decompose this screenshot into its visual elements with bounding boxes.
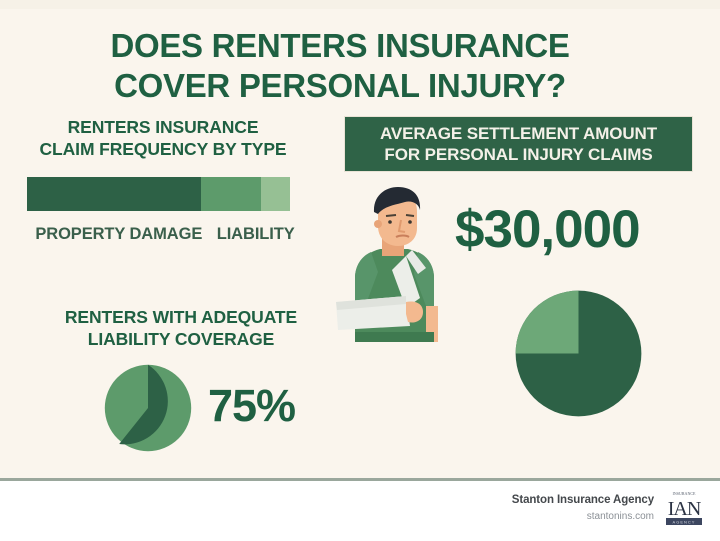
logo-bar-text: AGENCY xyxy=(673,520,696,525)
claim-frequency-heading-line-2: CLAIM FREQUENCY BY TYPE xyxy=(18,138,308,160)
person-shirt-hem xyxy=(355,332,434,342)
poster-top-strip xyxy=(0,0,720,9)
person-eye-left xyxy=(388,220,392,224)
title-line-1: DOES RENTERS INSURANCE xyxy=(40,26,640,66)
bar-legend: PROPERTY DAMAGE LIABILITY xyxy=(20,225,310,244)
person-ear xyxy=(374,220,382,228)
settlement-heading-line-2: FOR PERSONAL INJURY CLAIMS xyxy=(384,144,652,165)
agency-logo-icon: INSURANCE IAN AGENCY xyxy=(662,489,706,527)
logo-top-text: INSURANCE xyxy=(673,491,696,496)
settlement-header-box: AVERAGE SETTLEMENT AMOUNT FOR PERSONAL I… xyxy=(344,116,693,172)
person-eyebrow xyxy=(386,215,396,216)
coverage-row: 75% xyxy=(36,363,326,455)
coverage-heading-line-2: LIABILITY COVERAGE xyxy=(36,328,326,350)
logo-monogram: IAN xyxy=(668,498,701,520)
bar-segment-other xyxy=(261,177,290,211)
coverage-heading-line-1: RENTERS WITH ADEQUATE xyxy=(36,306,326,328)
pie-large-slice-minor xyxy=(516,291,579,354)
claim-frequency-chart: RENTERS INSURANCE CLAIM FREQUENCY BY TYP… xyxy=(18,116,308,244)
person-eyebrow-2 xyxy=(406,215,414,216)
title-line-2: COVER PERSONAL INJURY? xyxy=(40,66,640,106)
coverage-pie-chart xyxy=(103,363,193,453)
coverage-heading: RENTERS WITH ADEQUATE LIABILITY COVERAGE xyxy=(36,306,326,351)
settlement-amount: $30,000 xyxy=(455,203,640,256)
person-eye-right xyxy=(408,220,412,224)
footer-text: Stanton Insurance Agency stantonins.com xyxy=(512,492,654,524)
claim-frequency-heading-line-1: RENTERS INSURANCE xyxy=(18,116,308,138)
claim-frequency-heading: RENTERS INSURANCE CLAIM FREQUENCY BY TYP… xyxy=(18,116,308,161)
settlement-pie-chart xyxy=(513,288,644,419)
footer-branding: Stanton Insurance Agency stantonins.com … xyxy=(512,489,706,527)
legend-label-liability: LIABILITY xyxy=(217,225,295,243)
page-title: DOES RENTERS INSURANCE COVER PERSONAL IN… xyxy=(40,26,640,107)
liability-coverage-chart: RENTERS WITH ADEQUATE LIABILITY COVERAGE… xyxy=(36,306,326,455)
legend-label-property-damage: PROPERTY DAMAGE xyxy=(35,225,202,243)
coverage-percent-label: 75% xyxy=(208,383,295,428)
infographic-canvas: DOES RENTERS INSURANCE COVER PERSONAL IN… xyxy=(0,0,720,541)
settlement-heading-line-1: AVERAGE SETTLEMENT AMOUNT xyxy=(380,123,657,144)
stacked-bar xyxy=(27,177,290,211)
agency-website[interactable]: stantonins.com xyxy=(512,509,654,524)
footer: Stanton Insurance Agency stantonins.com … xyxy=(0,481,720,541)
agency-name: Stanton Insurance Agency xyxy=(512,492,654,509)
poster-panel: DOES RENTERS INSURANCE COVER PERSONAL IN… xyxy=(0,0,720,481)
injured-person-illustration xyxy=(322,186,462,356)
bar-segment-liability xyxy=(201,177,261,211)
bar-segment-property-damage xyxy=(27,177,201,211)
